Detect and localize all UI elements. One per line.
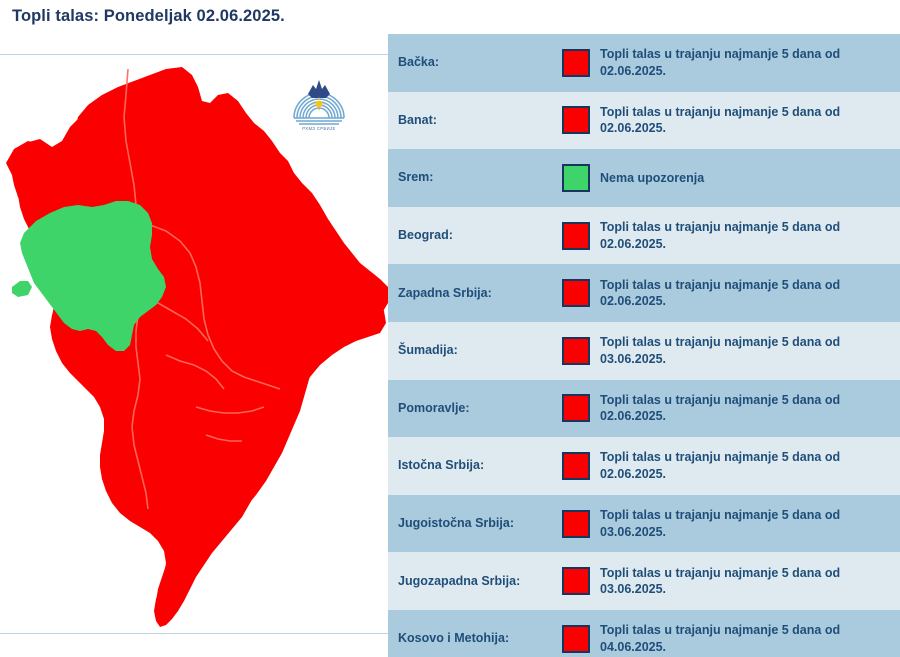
warning-list: Bačka:Topli talas u trajanju najmanje 5 … [388, 33, 900, 657]
region-label: Kosovo i Metohija: [388, 631, 562, 646]
rhmz-logo: РХМЗ СРБИЈЕ [292, 74, 346, 132]
warning-text: Topli talas u trajanju najmanje 5 dana o… [600, 277, 840, 310]
severity-swatch-red [562, 625, 590, 653]
warning-row[interactable]: Šumadija:Topli talas u trajanju najmanje… [388, 322, 900, 380]
warning-row[interactable]: Jugoistočna Srbija:Topli talas u trajanj… [388, 495, 900, 553]
warning-row[interactable]: Istočna Srbija:Topli talas u trajanju na… [388, 437, 900, 495]
warning-text: Topli talas u trajanju najmanje 5 dana o… [600, 507, 840, 540]
map-region-green-spur [12, 281, 32, 297]
severity-swatch-red [562, 394, 590, 422]
warning-text-line1: Nema upozorenja [600, 171, 704, 185]
warning-text-line1: Topli talas u trajanju najmanje 5 dana o… [600, 220, 840, 234]
warning-row[interactable]: Zapadna Srbija:Topli talas u trajanju na… [388, 264, 900, 322]
warning-text-line2: 02.06.2025. [600, 408, 840, 425]
warning-row[interactable]: Beograd:Topli talas u trajanju najmanje … [388, 207, 900, 265]
region-label: Istočna Srbija: [388, 458, 562, 473]
region-label: Banat: [388, 113, 562, 128]
warning-text-line2: 02.06.2025. [600, 63, 840, 80]
warning-text: Topli talas u trajanju najmanje 5 dana o… [600, 46, 840, 79]
warning-text-line2: 03.06.2025. [600, 581, 840, 598]
severity-swatch-red [562, 106, 590, 134]
warning-text-line1: Topli talas u trajanju najmanje 5 dana o… [600, 278, 840, 292]
warning-text-line1: Topli talas u trajanju najmanje 5 dana o… [600, 508, 840, 522]
warning-row[interactable]: Srem:Nema upozorenja [388, 149, 900, 207]
warning-text-line2: 04.06.2025. [600, 639, 840, 656]
region-label: Jugoistočna Srbija: [388, 516, 562, 531]
warning-text: Topli talas u trajanju najmanje 5 dana o… [600, 565, 840, 598]
region-label: Pomoravlje: [388, 401, 562, 416]
warning-text-line1: Topli talas u trajanju najmanje 5 dana o… [600, 566, 840, 580]
warning-text: Topli talas u trajanju najmanje 5 dana o… [600, 219, 840, 252]
warning-text-line2: 02.06.2025. [600, 236, 840, 253]
severity-swatch-red [562, 337, 590, 365]
warning-text-line1: Topli talas u trajanju najmanje 5 dana o… [600, 623, 840, 637]
warning-text: Topli talas u trajanju najmanje 5 dana o… [600, 622, 840, 655]
warning-text-line2: 03.06.2025. [600, 351, 840, 368]
warning-text-line2: 02.06.2025. [600, 120, 840, 137]
warning-text-line2: 03.06.2025. [600, 524, 840, 541]
warning-text: Topli talas u trajanju najmanje 5 dana o… [600, 334, 840, 367]
region-label: Srem: [388, 170, 562, 185]
severity-swatch-red [562, 222, 590, 250]
warning-text-line1: Topli talas u trajanju najmanje 5 dana o… [600, 105, 840, 119]
warning-page: Topli talas: Ponedeljak 02.06.2025. [0, 0, 900, 657]
serbia-warning-map[interactable] [0, 55, 388, 633]
warning-text-line1: Topli talas u trajanju najmanje 5 dana o… [600, 450, 840, 464]
logo-peak-icon [308, 80, 330, 98]
severity-swatch-red [562, 510, 590, 538]
warning-row[interactable]: Jugozapadna Srbija:Topli talas u trajanj… [388, 552, 900, 610]
divider-bottom [0, 633, 388, 634]
warning-text: Topli talas u trajanju najmanje 5 dana o… [600, 449, 840, 482]
warning-text-line1: Topli talas u trajanju najmanje 5 dana o… [600, 47, 840, 61]
page-title: Topli talas: Ponedeljak 02.06.2025. [12, 7, 285, 26]
warning-text: Topli talas u trajanju najmanje 5 dana o… [600, 104, 840, 137]
region-label: Bačka: [388, 55, 562, 70]
warning-text-line2: 02.06.2025. [600, 466, 840, 483]
title-bar: Topli talas: Ponedeljak 02.06.2025. [0, 0, 388, 54]
warning-text: Topli talas u trajanju najmanje 5 dana o… [600, 392, 840, 425]
severity-swatch-red [562, 567, 590, 595]
rhmz-logo-icon: РХМЗ СРБИЈЕ [292, 74, 346, 132]
severity-swatch-red [562, 279, 590, 307]
region-label: Jugozapadna Srbija: [388, 574, 562, 589]
warning-row[interactable]: Bačka:Topli talas u trajanju najmanje 5 … [388, 34, 900, 92]
warning-text: Nema upozorenja [600, 170, 704, 187]
region-label: Zapadna Srbija: [388, 286, 562, 301]
warning-text-line2: 02.06.2025. [600, 293, 840, 310]
warning-text-line1: Topli talas u trajanju najmanje 5 dana o… [600, 393, 840, 407]
severity-swatch-green [562, 164, 590, 192]
serbia-map-svg [0, 55, 388, 633]
warning-row[interactable]: Kosovo i Metohija:Topli talas u trajanju… [388, 610, 900, 657]
severity-swatch-red [562, 49, 590, 77]
logo-caption: РХМЗ СРБИЈЕ [302, 126, 335, 131]
severity-swatch-red [562, 452, 590, 480]
region-label: Beograd: [388, 228, 562, 243]
warning-text-line1: Topli talas u trajanju najmanje 5 dana o… [600, 335, 840, 349]
warning-row[interactable]: Pomoravlje:Topli talas u trajanju najman… [388, 380, 900, 438]
region-label: Šumadija: [388, 343, 562, 358]
warning-row[interactable]: Banat:Topli talas u trajanju najmanje 5 … [388, 92, 900, 150]
